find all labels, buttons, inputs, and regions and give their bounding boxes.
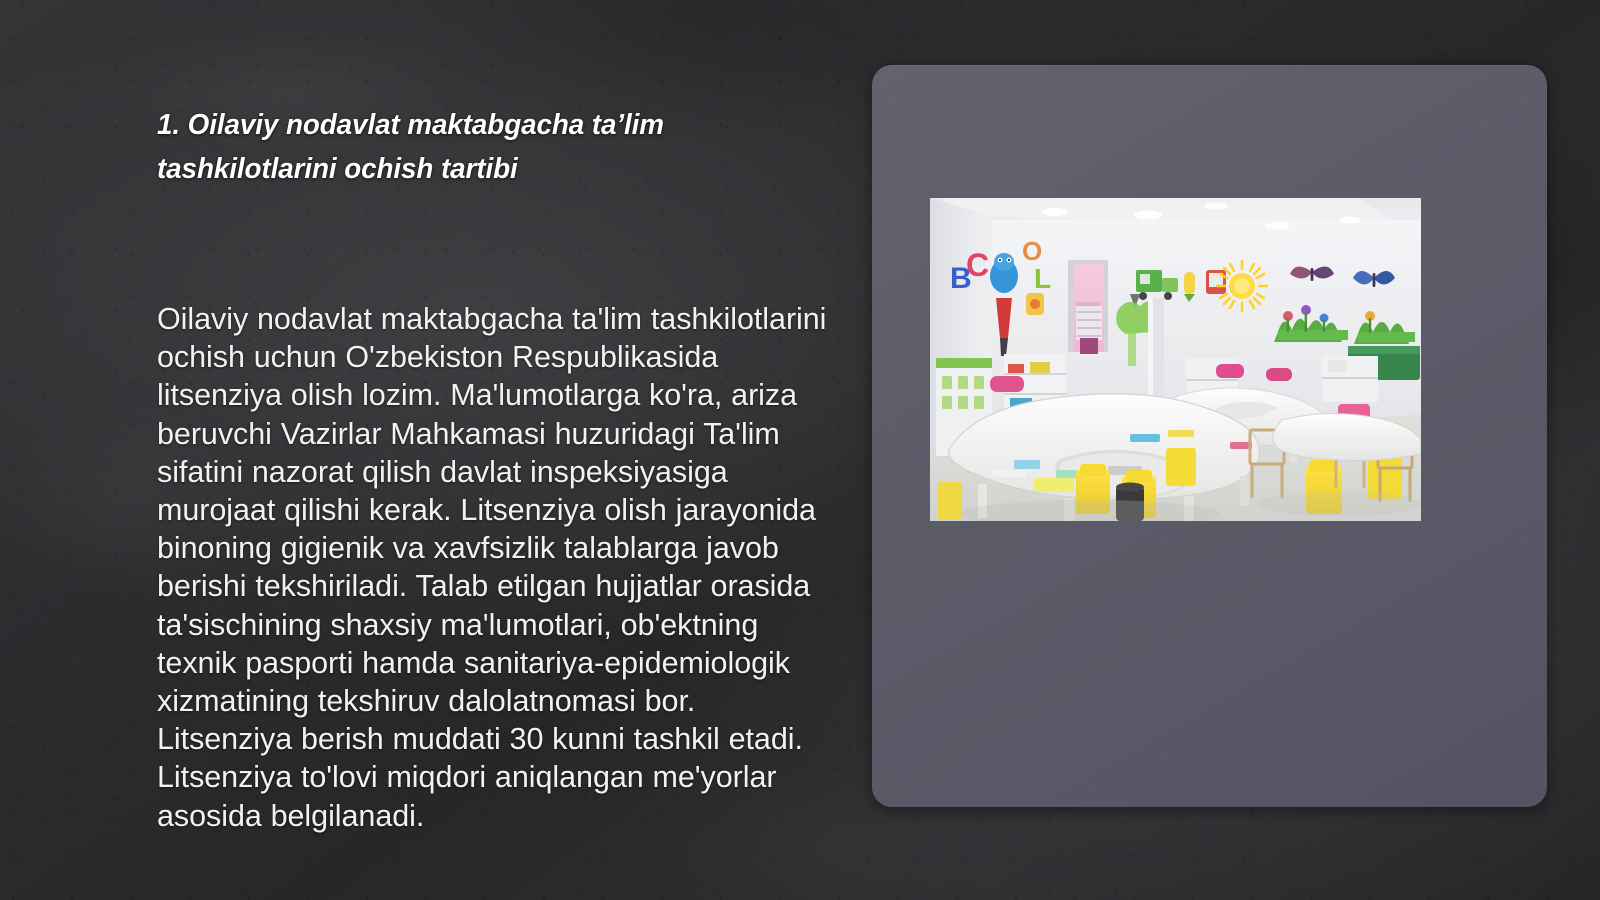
slide-title: 1. Oilaviy nodavlat maktabgacha ta’lim t… <box>157 104 771 191</box>
classroom-photo-illustration: B C O L <box>930 198 1421 521</box>
text-column: 1. Oilaviy nodavlat maktabgacha ta’lim t… <box>157 104 847 900</box>
classroom-photo: B C O L <box>930 198 1421 521</box>
slide-canvas: 1. Oilaviy nodavlat maktabgacha ta’lim t… <box>0 0 1600 900</box>
body-text-container: Oilaviy nodavlat maktabgacha ta'lim tash… <box>157 300 837 900</box>
body-paragraph: Oilaviy nodavlat maktabgacha ta'lim tash… <box>157 300 837 835</box>
image-panel: B C O L <box>872 65 1547 807</box>
